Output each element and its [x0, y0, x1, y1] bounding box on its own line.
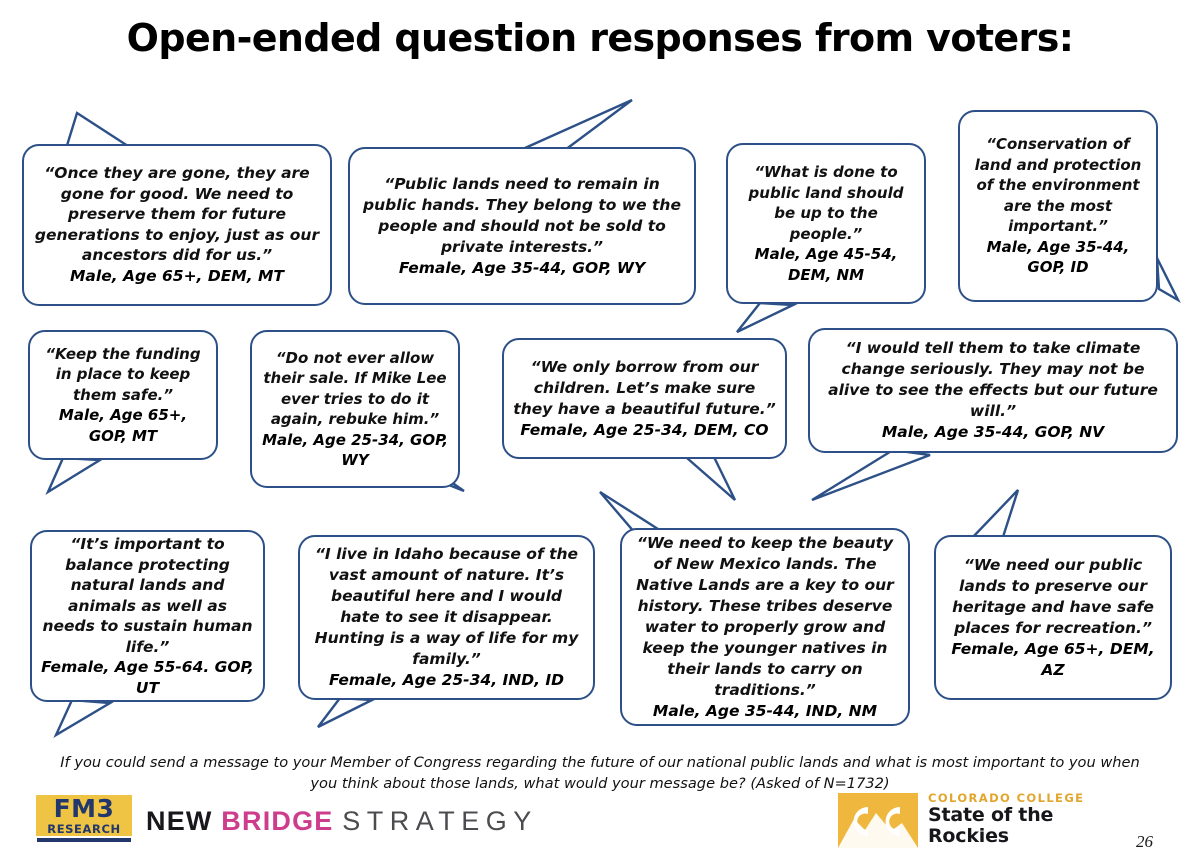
tail-bubble-9 — [56, 700, 110, 735]
nbs-space-1 — [213, 806, 222, 836]
quote-attribution: Male, Age 65+, DEM, MT — [70, 266, 284, 287]
tail-bubble-12 — [972, 490, 1018, 538]
tail-bubble-8 — [812, 450, 930, 500]
tail-bubble-2 — [525, 100, 632, 150]
quote-text: “Conservation of land and protection of … — [969, 134, 1147, 237]
quote-bubble-12[interactable]: “We need our public lands to preserve ou… — [934, 535, 1172, 700]
quote-bubble-7[interactable]: “We only borrow from our children. Let’s… — [502, 338, 787, 459]
cc-logo-line1: State of the — [928, 805, 1084, 826]
quote-bubble-9[interactable]: “It’s important to balance protecting na… — [30, 530, 265, 702]
quote-text: “We need to keep the beauty of New Mexic… — [631, 533, 899, 701]
quote-attribution: Female, Age 25-34, DEM, CO — [520, 420, 768, 441]
cc-monogram-mark — [838, 793, 918, 848]
quote-bubble-6[interactable]: “Do not ever allow their sale. If Mike L… — [250, 330, 460, 488]
quote-text: “It’s important to balance protecting na… — [41, 534, 254, 657]
quote-text: “Public lands need to remain in public h… — [359, 174, 685, 258]
nbs-word-new: NEW — [146, 806, 213, 836]
tail-bubble-7 — [687, 455, 735, 500]
quote-bubble-11[interactable]: “We need to keep the beauty of New Mexic… — [620, 528, 910, 726]
nbs-word-strategy: STRATEGY — [342, 806, 538, 836]
fm3-logo-subtitle: RESEARCH — [36, 822, 132, 836]
quote-attribution: Female, Age 35-44, GOP, WY — [399, 258, 645, 279]
quote-text: “Keep the funding in place to keep them … — [39, 344, 207, 406]
tail-bubble-4 — [1157, 258, 1178, 300]
slide-canvas: Open-ended question responses from voter… — [0, 0, 1200, 866]
quote-attribution: Female, Age 65+, DEM, AZ — [945, 639, 1161, 681]
cc-logo-line2: Rockies — [928, 826, 1084, 847]
quote-bubble-10[interactable]: “I live in Idaho because of the vast amo… — [298, 535, 595, 700]
quote-text: “I would tell them to take climate chang… — [819, 338, 1167, 422]
survey-question-footnote: If you could send a message to your Memb… — [45, 752, 1155, 794]
quote-bubble-2[interactable]: “Public lands need to remain in public h… — [348, 147, 696, 305]
fm3-logo-mark: FM3 — [36, 794, 132, 824]
quote-bubble-3[interactable]: “What is done to public land should be u… — [726, 143, 926, 304]
tail-bubble-3 — [737, 303, 793, 332]
quote-text: “Do not ever allow their sale. If Mike L… — [261, 348, 449, 430]
nbs-word-bridge: BRIDGE — [221, 806, 333, 836]
quote-text: “I live in Idaho because of the vast amo… — [309, 544, 584, 670]
quote-attribution: Male, Age 35-44, GOP, NV — [882, 422, 1104, 443]
new-bridge-strategy-logo: NEW BRIDGE STRATEGY — [146, 806, 538, 837]
quote-text: “What is done to public land should be u… — [737, 162, 915, 244]
page-number: 26 — [1136, 832, 1153, 852]
quote-attribution: Female, Age 55-64. GOP, UT — [41, 657, 254, 698]
quote-attribution: Female, Age 25-34, IND, ID — [329, 670, 564, 691]
tail-bubble-10 — [318, 698, 372, 727]
quote-attribution: Male, Age 35-44, GOP, ID — [969, 237, 1147, 278]
quote-text: “We only borrow from our children. Let’s… — [513, 357, 776, 420]
quote-attribution: Male, Age 25-34, GOP, WY — [261, 430, 449, 471]
fm3-research-logo: FM3 RESEARCH — [36, 795, 132, 849]
page-title: Open-ended question responses from voter… — [0, 16, 1200, 60]
quote-attribution: Male, Age 65+, GOP, MT — [39, 405, 207, 446]
quote-bubble-1[interactable]: “Once they are gone, they are gone for g… — [22, 144, 332, 306]
quote-text: “Once they are gone, they are gone for g… — [33, 163, 321, 266]
quote-bubble-5[interactable]: “Keep the funding in place to keep them … — [28, 330, 218, 460]
tail-bubble-5 — [48, 458, 100, 492]
cc-logo-eyebrow: COLORADO COLLEGE — [928, 791, 1084, 805]
fm3-logo-rule — [37, 838, 131, 842]
cc-logo-text: COLORADO COLLEGE State of the Rockies — [928, 791, 1084, 847]
quote-text: “We need our public lands to preserve ou… — [945, 555, 1161, 639]
quote-bubble-4[interactable]: “Conservation of land and protection of … — [958, 110, 1158, 302]
quote-bubble-8[interactable]: “I would tell them to take climate chang… — [808, 328, 1178, 453]
nbs-space-2 — [334, 806, 343, 836]
colorado-college-logo: COLORADO COLLEGE State of the Rockies — [838, 791, 1148, 851]
quote-attribution: Male, Age 45-54, DEM, NM — [737, 244, 915, 285]
quote-attribution: Male, Age 35-44, IND, NM — [653, 701, 877, 722]
